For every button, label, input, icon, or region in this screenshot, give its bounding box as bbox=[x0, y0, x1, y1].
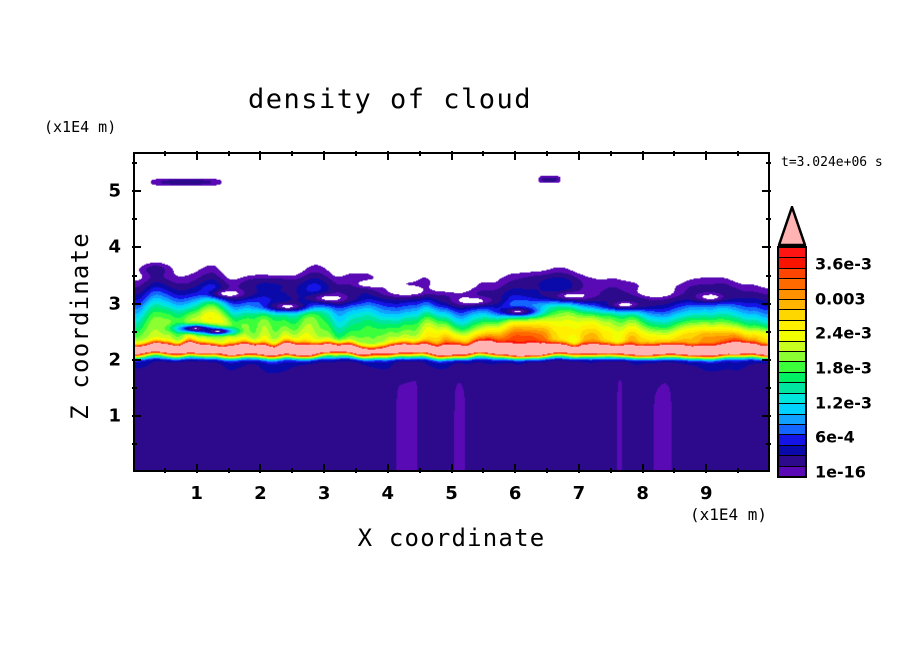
colorbar-band bbox=[779, 373, 805, 383]
colorbar bbox=[777, 206, 807, 478]
colorbar-band bbox=[779, 300, 805, 310]
colorbar-band bbox=[779, 435, 805, 445]
colorbar-band bbox=[779, 404, 805, 414]
z-axis-unit-label: (x1E4 m) bbox=[44, 118, 116, 136]
page-title: density of cloud bbox=[0, 84, 780, 115]
colorbar-band bbox=[779, 446, 805, 456]
colorbar-band bbox=[779, 258, 805, 268]
colorbar-band bbox=[779, 321, 805, 331]
colorbar-bands bbox=[777, 246, 807, 478]
colorbar-band bbox=[779, 425, 805, 435]
colorbar-band bbox=[779, 415, 805, 425]
x-tick-label: 8 bbox=[636, 483, 649, 504]
contour-canvas bbox=[135, 154, 768, 470]
colorbar-label: 6e-4 bbox=[815, 428, 855, 447]
x-tick-label: 4 bbox=[382, 483, 395, 504]
x-tick-label: 2 bbox=[254, 483, 267, 504]
colorbar-over-arrow-icon bbox=[777, 206, 807, 246]
colorbar-band bbox=[779, 383, 805, 393]
colorbar-label: 1.8e-3 bbox=[815, 359, 872, 378]
x-tick-label: 9 bbox=[700, 483, 713, 504]
y-tick-label: 5 bbox=[97, 181, 121, 202]
x-tick-label: 6 bbox=[509, 483, 522, 504]
timestamp-annotation: t=3.024e+06 s bbox=[781, 155, 883, 170]
colorbar-band bbox=[779, 248, 805, 258]
x-tick-label: 5 bbox=[445, 483, 458, 504]
colorbar-band bbox=[779, 394, 805, 404]
colorbar-band bbox=[779, 456, 805, 466]
colorbar-band bbox=[779, 290, 805, 300]
x-tick-label: 3 bbox=[318, 483, 331, 504]
y-axis-title: Z coordinate bbox=[66, 216, 94, 436]
x-axis-unit-label: (x1E4 m) bbox=[690, 505, 767, 524]
colorbar-label: 1e-16 bbox=[815, 463, 866, 482]
contour-plot-area bbox=[133, 152, 770, 472]
colorbar-label: 0.003 bbox=[815, 289, 866, 308]
colorbar-band bbox=[779, 362, 805, 372]
colorbar-band bbox=[779, 310, 805, 320]
x-tick-label: 1 bbox=[190, 483, 203, 504]
y-tick-label: 4 bbox=[97, 237, 121, 258]
x-axis-title: X coordinate bbox=[133, 524, 770, 552]
colorbar-band bbox=[779, 352, 805, 362]
y-tick-label: 3 bbox=[97, 293, 121, 314]
colorbar-band bbox=[779, 331, 805, 341]
colorbar-label: 1.2e-3 bbox=[815, 393, 872, 412]
colorbar-band bbox=[779, 279, 805, 289]
colorbar-band bbox=[779, 269, 805, 279]
x-tick-label: 7 bbox=[573, 483, 586, 504]
colorbar-band bbox=[779, 467, 805, 476]
colorbar-label: 2.4e-3 bbox=[815, 324, 872, 343]
y-tick-label: 1 bbox=[97, 405, 121, 426]
y-tick-label: 2 bbox=[97, 349, 121, 370]
colorbar-band bbox=[779, 342, 805, 352]
colorbar-label: 3.6e-3 bbox=[815, 255, 872, 274]
